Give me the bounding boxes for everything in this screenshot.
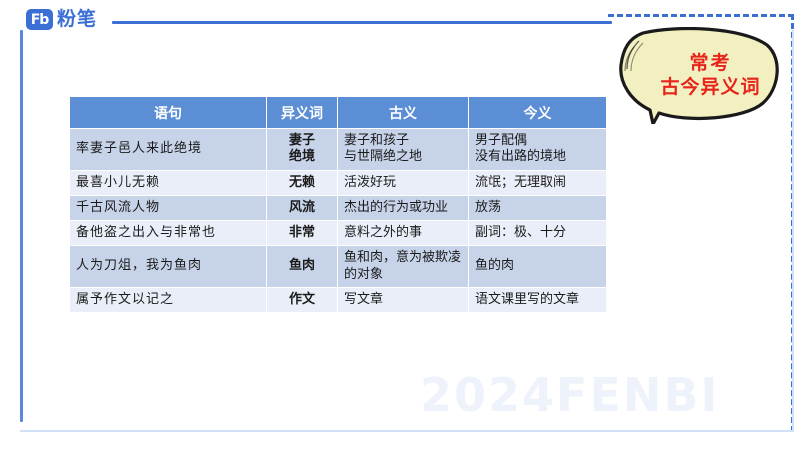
row-cell-modern-meaning: 语文课里写的文章: [469, 287, 607, 312]
table-header-row: 语句 异义词 古义 今义: [70, 97, 607, 129]
fenbi-logo-text: 粉笔: [57, 10, 97, 29]
table-row: 备他盗之出入与非常也非常意料之外的事副词：极、十分: [70, 221, 607, 246]
row-cell-modern-meaning: 副词：极、十分: [469, 221, 607, 246]
row-cell-modern-meaning: 流氓；无理取闹: [469, 170, 607, 195]
row-cell-ancient-meaning: 意料之外的事: [338, 221, 469, 246]
table-row: 千古风流人物风流杰出的行为或功业放荡: [70, 195, 607, 220]
row-cell-word: 妻子绝境: [267, 129, 338, 171]
row-cell-modern-meaning: 鱼的肉: [469, 246, 607, 288]
row-cell-sentence: 备他盗之出入与非常也: [70, 221, 267, 246]
row-cell-word: 作文: [267, 287, 338, 312]
column-header-ancient-meaning: 古义: [338, 97, 469, 129]
row-cell-ancient-meaning: 妻子和孩子与世隔绝之地: [338, 129, 469, 171]
column-header-sentence: 语句: [70, 97, 267, 129]
row-cell-modern-meaning: 放荡: [469, 195, 607, 220]
table-body: 率妻子邑人来此绝境妻子绝境妻子和孩子与世隔绝之地男子配偶没有出路的境地最喜小儿无…: [70, 129, 607, 313]
row-cell-word: 风流: [267, 195, 338, 220]
column-header-word: 异义词: [267, 97, 338, 129]
row-cell-ancient-meaning: 活泼好玩: [338, 170, 469, 195]
row-cell-ancient-meaning: 写文章: [338, 287, 469, 312]
row-cell-sentence: 人为刀俎，我为鱼肉: [70, 246, 267, 288]
row-cell-modern-meaning: 男子配偶没有出路的境地: [469, 129, 607, 171]
fenbi-logo: Fb 粉笔: [26, 9, 97, 30]
watermark-text: 2024FENBI: [420, 368, 720, 422]
row-cell-sentence: 最喜小儿无赖: [70, 170, 267, 195]
left-rule-decoration: [20, 30, 23, 422]
slide-canvas: Fb 粉笔 2024FENBI 语句 异义词 古义 今义 率妻子邑人来此绝境妻子…: [0, 0, 800, 450]
fenbi-logo-icon: Fb: [26, 9, 53, 30]
row-cell-word: 鱼肉: [267, 246, 338, 288]
callout-text-group: 常考 古今异义词: [617, 27, 782, 124]
column-header-modern-meaning: 今义: [469, 97, 607, 129]
top-rule-decoration: [112, 21, 612, 24]
vocabulary-table-container: 语句 异义词 古义 今义 率妻子邑人来此绝境妻子绝境妻子和孩子与世隔绝之地男子配…: [69, 96, 606, 313]
table-row: 属予作文以记之作文写文章语文课里写的文章: [70, 287, 607, 312]
exam-focus-callout: 常考 古今异义词: [617, 27, 782, 124]
callout-line-1: 常考: [689, 53, 731, 75]
row-cell-sentence: 率妻子邑人来此绝境: [70, 129, 267, 171]
row-cell-sentence: 属予作文以记之: [70, 287, 267, 312]
table-row: 率妻子邑人来此绝境妻子绝境妻子和孩子与世隔绝之地男子配偶没有出路的境地: [70, 129, 607, 171]
row-cell-word: 无赖: [267, 170, 338, 195]
vocabulary-table: 语句 异义词 古义 今义 率妻子邑人来此绝境妻子绝境妻子和孩子与世隔绝之地男子配…: [69, 96, 607, 313]
table-row: 最喜小儿无赖无赖活泼好玩流氓；无理取闹: [70, 170, 607, 195]
row-cell-ancient-meaning: 杰出的行为或功业: [338, 195, 469, 220]
row-cell-ancient-meaning: 鱼和肉，意为被欺凌的对象: [338, 246, 469, 288]
row-cell-word: 非常: [267, 221, 338, 246]
table-row: 人为刀俎，我为鱼肉鱼肉鱼和肉，意为被欺凌的对象鱼的肉: [70, 246, 607, 288]
row-cell-sentence: 千古风流人物: [70, 195, 267, 220]
callout-line-2: 古今异义词: [660, 77, 760, 99]
